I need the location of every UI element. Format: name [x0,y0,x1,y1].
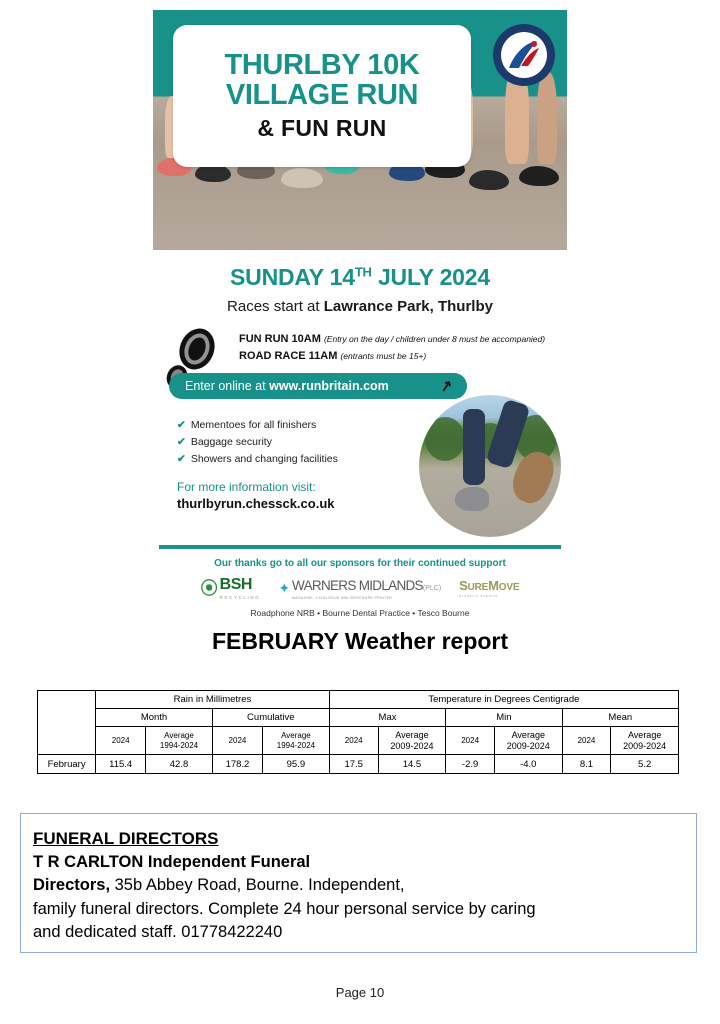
flyer-date-rest: JULY 2024 [372,264,490,290]
flyer-location-place: Lawrance Park, Thurlby [324,298,493,315]
cell-rain-month-avg: 42.8 [146,755,213,774]
flyer-date-ordinal: TH [355,264,372,279]
bsh-swirl-icon: ⦿ [201,580,218,597]
cell-mean-2024: 8.1 [562,755,611,774]
year-header-min-2024: 2024 [446,727,495,755]
table-row-sub-headers: Month Cumulative Max Min Mean [38,709,679,727]
ad-line-3: family funeral directors. Complete 24 ho… [33,898,686,921]
year-header-rain-month-2024: 2024 [96,727,146,755]
flyer-date-main: SUNDAY 14 [230,264,355,290]
year-header-rain-cum-avg: Average1994-2024 [263,727,330,755]
race-note-0: (Entry on the day / children under 8 mus… [324,334,545,344]
flyer-title-line2: VILLAGE RUN [226,80,418,110]
ad-line-2-rest: 35b Abbey Road, Bourne. Independent, [110,876,405,894]
row-label-month: February [38,755,96,774]
features-list: ✔Mementoes for all finishers ✔Baggage se… [177,417,338,511]
sponsor-logo-warners: ✦ WARNERS MIDLANDS(PLC) MAGAZINE, CATALO… [278,577,441,600]
sub-header-month: Month [96,709,213,727]
cell-max-2024: 17.5 [329,755,378,774]
sponsor-sub-warners: MAGAZINE, CATALOGUE AND BROCHURE PRINTER [292,596,441,600]
runner-circle-photo [419,395,561,537]
weather-report-table: Rain in Millimetres Temperature in Degre… [37,690,679,774]
race-time-row: ROAD RACE 11AM (entrants must be 15+) [239,348,545,365]
warners-star-icon: ✦ [278,581,290,595]
race-name-0: FUN RUN 10AM [239,333,321,345]
list-item: ✔Baggage security [177,434,338,451]
feature-label-1: Baggage security [191,436,272,448]
sub-header-mean: Mean [562,709,678,727]
sponsor-logo-suremove: SUREMOVE property experts [459,578,519,599]
runbritain-licensed-badge [493,24,555,86]
sub-header-cumulative: Cumulative [212,709,329,727]
sponsor-logos: ⦿ BSH RECYCLING ✦ WARNERS MIDLANDS(PLC) … [153,575,567,601]
arrow-up-right-icon: ↗ [439,377,454,394]
list-item: ✔Mementoes for all finishers [177,417,338,434]
feature-label-0: Mementoes for all finishers [191,419,316,431]
year-header-max-2024: 2024 [329,727,378,755]
group-header-rain: Rain in Millimetres [96,691,330,709]
sponsor-sub-bsh: RECYCLING [220,595,261,600]
sponsor-logo-bsh: ⦿ BSH RECYCLING [201,576,261,600]
flyer-location: Races start at Lawrance Park, Thurlby [153,298,567,315]
sponsor-name-suremove: SUREMOVE [459,578,519,593]
flyer-hero-photo: THURLBY 10K VILLAGE RUN & FUN RUN [153,10,567,250]
enter-online-text: Enter online at www.runbritain.com [185,379,389,393]
sub-header-min: Min [446,709,562,727]
race-time-row: FUN RUN 10AM (Entry on the day / childre… [239,331,545,348]
cell-min-avg: -4.0 [494,755,562,774]
check-icon: ✔ [177,419,186,431]
table-row: February 115.4 42.8 178.2 95.9 17.5 14.5… [38,755,679,774]
year-header-mean-2024: 2024 [562,727,611,755]
enter-online-url: www.runbritain.com [269,379,389,393]
check-icon: ✔ [177,436,186,448]
sponsor-suffix-warners: (PLC) [423,585,441,592]
ad-line-2-bold: Directors, [33,876,110,894]
table-row-year-headers: 2024 Average1994-2024 2024 Average1994-2… [38,727,679,755]
flyer-title-card: THURLBY 10K VILLAGE RUN & FUN RUN [173,25,471,167]
more-info-url[interactable]: thurlbyrun.chessck.co.uk [177,496,338,511]
flyer-location-prefix: Races start at [227,298,324,315]
year-header-min-avg: Average2009-2024 [494,727,562,755]
race-note-1: (entrants must be 15+) [340,351,426,361]
ad-line-2: Directors, 35b Abbey Road, Bourne. Indep… [33,874,686,897]
list-item: ✔Showers and changing facilities [177,451,338,468]
year-header-max-avg: Average2009-2024 [378,727,446,755]
thurlby-10k-flyer: THURLBY 10K VILLAGE RUN & FUN RUN SUNDAY… [153,10,567,598]
cell-rain-month-2024: 115.4 [96,755,146,774]
runbritain-swoosh-icon [501,32,547,78]
teal-divider [159,545,561,549]
year-header-mean-avg: Average2009-2024 [611,727,679,755]
cell-mean-avg: 5.2 [611,755,679,774]
feature-label-2: Showers and changing facilities [191,453,338,465]
year-header-rain-month-avg: Average1994-2024 [146,727,213,755]
sponsors-note: Roadphone NRB • Bourne Dental Practice •… [153,608,567,618]
table-corner-cell [38,691,96,755]
weather-report-heading: FEBRUARY Weather report [0,628,720,655]
flyer-title-line3: & FUN RUN [257,115,386,141]
more-info-heading: For more information visit: [177,480,338,494]
table-row-group-headers: Rain in Millimetres Temperature in Degre… [38,691,679,709]
ad-title: FUNERAL DIRECTORS [33,828,686,851]
check-icon: ✔ [177,453,186,465]
sponsors-thanks: Our thanks go to all our sponsors for th… [153,558,567,569]
flyer-race-times: FUN RUN 10AM (Entry on the day / childre… [153,329,567,369]
flyer-title-line1: THURLBY 10K [225,50,420,80]
cell-rain-cum-2024: 178.2 [212,755,262,774]
page-number: Page 10 [0,985,720,1000]
sub-header-max: Max [329,709,446,727]
enter-online-prefix: Enter online at [185,379,269,393]
group-header-temperature: Temperature in Degrees Centigrade [329,691,678,709]
sponsor-name-bsh: BSH [220,576,252,593]
cell-max-avg: 14.5 [378,755,446,774]
enter-online-banner[interactable]: Enter online at www.runbritain.com ↗ [169,373,467,399]
ad-line-4: and dedicated staff. 01778422240 [33,921,686,944]
sponsor-name-warners: WARNERS MIDLANDS [292,578,423,593]
year-header-rain-cum-2024: 2024 [212,727,262,755]
cell-rain-cum-avg: 95.9 [263,755,330,774]
flyer-features-row: ✔Mementoes for all finishers ✔Baggage se… [153,407,567,539]
race-name-1: ROAD RACE 11AM [239,350,337,362]
funeral-directors-ad: FUNERAL DIRECTORS T R CARLTON Independen… [20,813,697,953]
sponsor-sub-suremove: property experts [459,595,519,599]
ad-line-1: T R CARLTON Independent Funeral [33,851,686,874]
flyer-date: SUNDAY 14TH JULY 2024 [153,264,567,291]
cell-min-2024: -2.9 [446,755,495,774]
